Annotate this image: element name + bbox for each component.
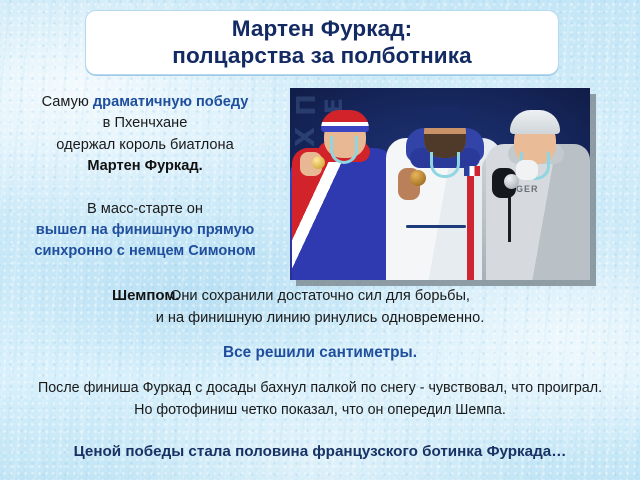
overlapping-bold-word: Шемпом. bbox=[112, 287, 222, 304]
slide-canvas: Мартен Фуркад: полцарства за полботника … bbox=[0, 0, 640, 480]
athlete-silver-medalist-norway bbox=[292, 112, 396, 280]
jacket-seam bbox=[406, 225, 466, 228]
left-paragraph-2: В масс-старте он вышел на финишную пряму… bbox=[14, 199, 276, 263]
left-line-5: В масс-старте он bbox=[87, 201, 203, 217]
medal-icon bbox=[504, 174, 519, 189]
left-line-1-bold: драматичную победу bbox=[93, 94, 248, 110]
page-title: Мартен Фуркад: полцарства за полботника bbox=[172, 16, 471, 69]
team-label: GER bbox=[516, 184, 539, 194]
left-line-4-bold: Мартен Фуркад. bbox=[87, 158, 202, 174]
left-text-column: Самую драматичную победу в Пхенчхане оде… bbox=[14, 92, 276, 262]
medal-icon bbox=[410, 170, 426, 186]
medal-ribbon bbox=[430, 152, 460, 178]
flag-patch-icon bbox=[464, 166, 480, 176]
medal-ribbon bbox=[330, 136, 358, 164]
slide-title-plate: Мартен Фуркад: полцарства за полботника bbox=[85, 10, 559, 75]
beanie-hat bbox=[321, 110, 369, 132]
podium-photo: П Х Е e ■ ■ bbox=[290, 88, 590, 280]
athlete-bronze-medalist-germany: GER bbox=[486, 110, 590, 280]
beanie-hat bbox=[510, 110, 560, 134]
left-line-2: в Пхенчхане bbox=[103, 115, 188, 131]
left-line-3: одержал король биатлона bbox=[56, 137, 233, 153]
jacket-cord bbox=[508, 196, 511, 242]
hand bbox=[516, 160, 538, 180]
final-line: Ценой победы стала половина французского… bbox=[10, 443, 630, 460]
medal-icon bbox=[312, 156, 325, 169]
left-paragraph-1: Самую драматичную победу в Пхенчхане оде… bbox=[14, 92, 276, 177]
left-line-1-plain: Самую bbox=[42, 94, 93, 110]
lower-paragraph: После финиша Фуркад с досады бахнул палк… bbox=[14, 378, 626, 421]
left-line-6-bold: вышел на финишную прямую синхронно с нем… bbox=[34, 222, 255, 259]
beanie-hat bbox=[420, 106, 470, 128]
accent-line: Все решили сантиметры. bbox=[60, 344, 580, 362]
